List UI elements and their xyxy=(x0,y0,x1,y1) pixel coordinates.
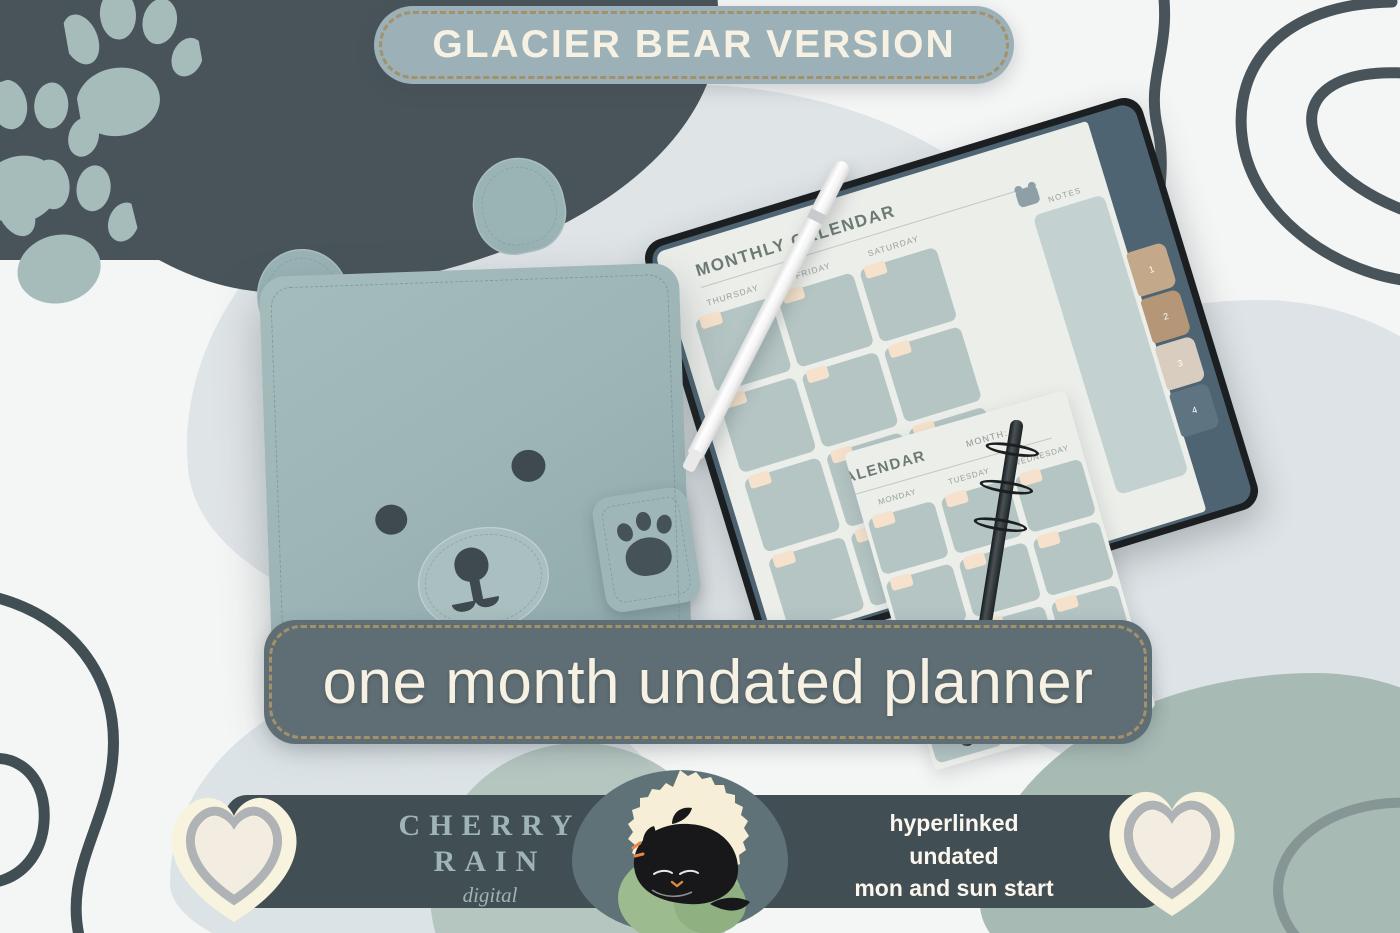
calendar-cell xyxy=(1014,458,1097,533)
bear-mouth-icon xyxy=(450,592,477,614)
sleeping-cat-badge-icon xyxy=(560,770,800,933)
heart-sticker-icon xyxy=(160,788,308,928)
calendar-cell xyxy=(767,536,865,632)
feature-item: undated xyxy=(789,840,1119,873)
top-version-badge-label: GLACIER BEAR VERSION xyxy=(432,23,955,67)
paw-toe-icon xyxy=(635,511,653,532)
calendar-cell xyxy=(801,352,899,448)
paw-strap-icon xyxy=(590,485,703,615)
calendar-title-fragment: ALENDAR xyxy=(844,447,928,486)
feature-list: hyperlinked undated mon and sun start xyxy=(789,807,1119,905)
paw-print-icon xyxy=(60,0,214,150)
paw-pad-icon xyxy=(623,534,674,579)
calendar-cell xyxy=(743,456,841,552)
feature-item: hyperlinked xyxy=(789,807,1119,840)
main-title-banner: one month undated planner xyxy=(264,620,1152,744)
calendar-cell xyxy=(884,326,982,422)
bear-eye-icon xyxy=(375,504,408,535)
heart-sticker-icon xyxy=(1098,782,1246,922)
bear-eye-icon xyxy=(511,449,546,482)
paw-toe-icon xyxy=(614,521,636,545)
bear-ear-right-icon xyxy=(464,149,574,262)
feature-item: mon and sun start xyxy=(789,872,1119,905)
paw-toe-icon xyxy=(656,514,673,535)
calendar-cell xyxy=(867,500,950,575)
calendar-cell xyxy=(1032,521,1115,596)
calendar-cell xyxy=(859,247,957,343)
bear-mouth-icon xyxy=(474,587,501,609)
main-title-label: one month undated planner xyxy=(323,647,1094,718)
top-version-badge: GLACIER BEAR VERSION xyxy=(374,6,1014,84)
calendar-cell xyxy=(777,272,875,368)
poster-canvas: MONTHLY CALENDAR THURSDAY FRIDAY SATURDA… xyxy=(0,0,1400,933)
bear-nose-icon xyxy=(451,545,491,585)
bear-mouth-icon xyxy=(469,576,484,603)
